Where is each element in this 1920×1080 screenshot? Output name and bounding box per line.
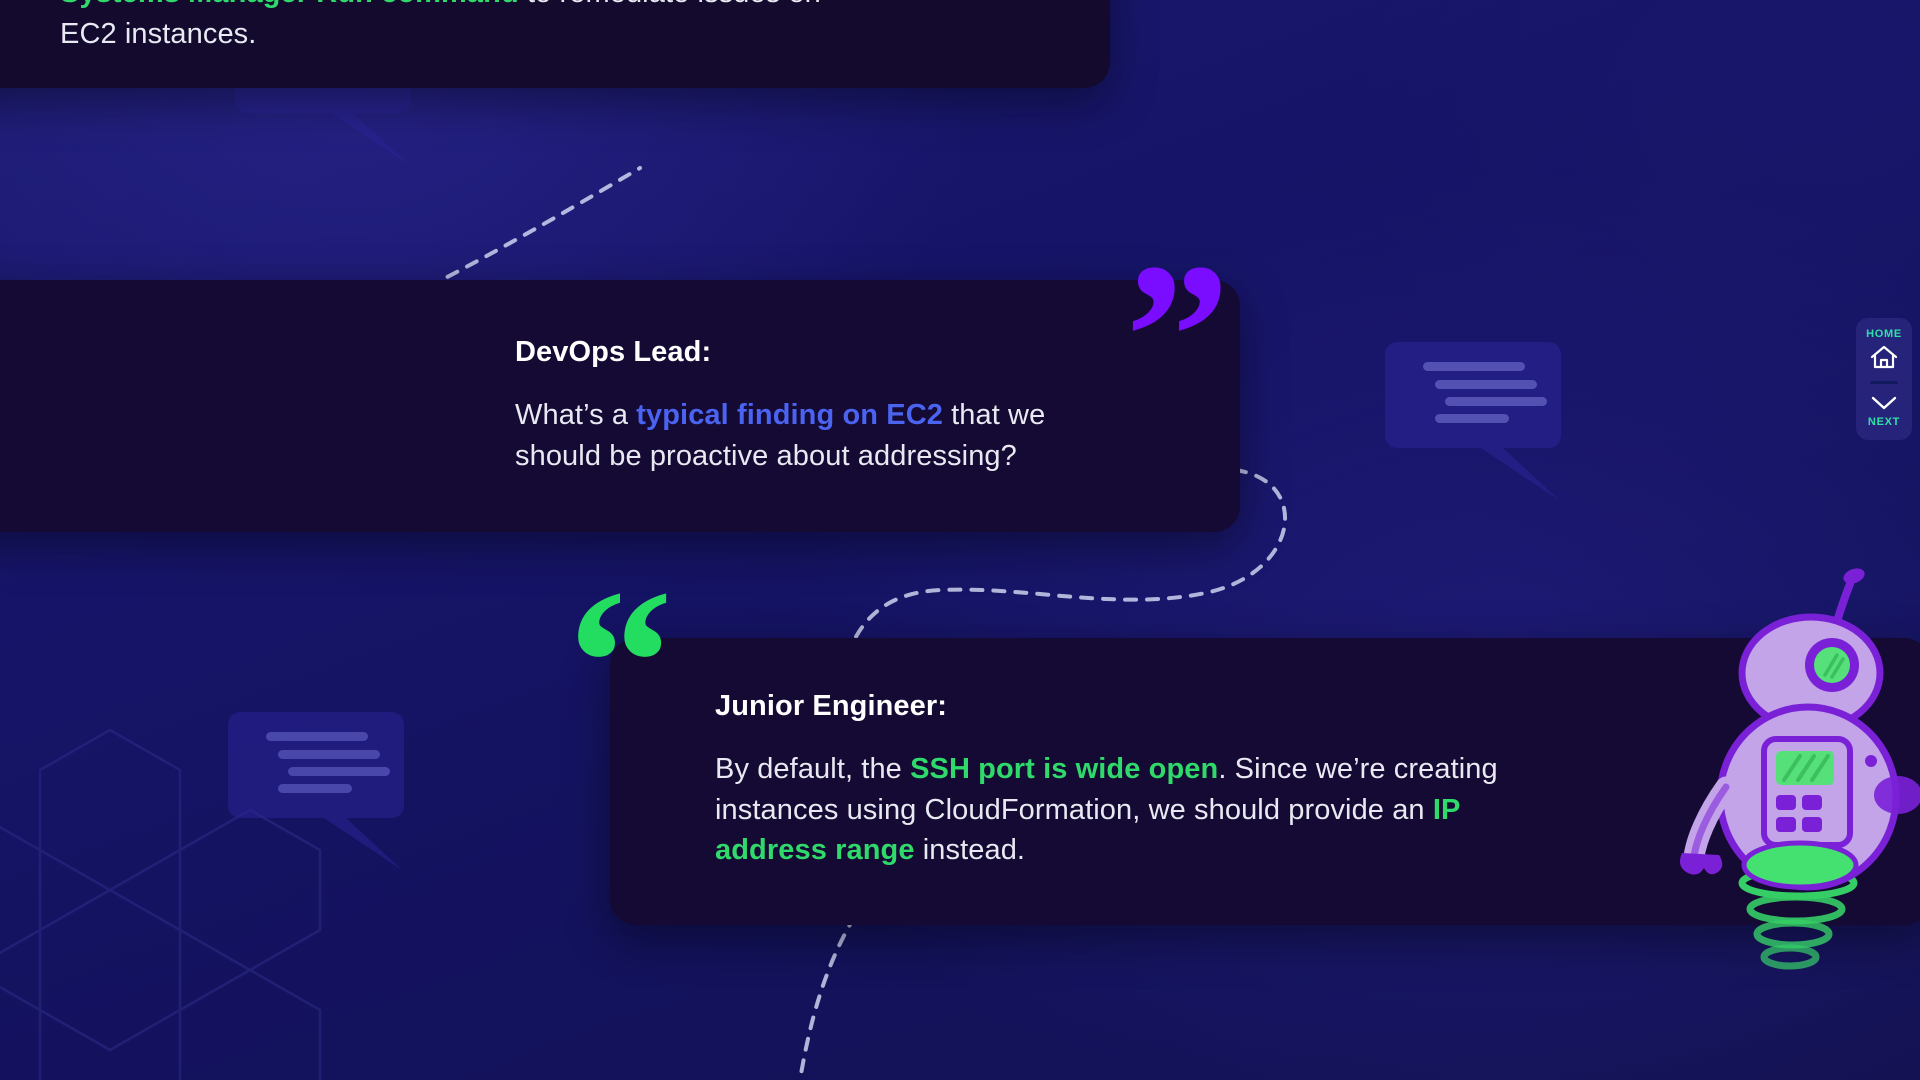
nav-divider bbox=[1870, 381, 1898, 384]
chat-bubble-icon bbox=[1375, 340, 1570, 500]
message-body: What’s a typical finding on EC2 that wes… bbox=[515, 395, 1180, 476]
text-run: instances using CloudFormation, we shoul… bbox=[715, 794, 1433, 826]
home-button-label: HOME bbox=[1866, 328, 1902, 340]
text-run: Systems Manager Run command bbox=[60, 0, 519, 9]
chat-bubble-icon bbox=[218, 710, 413, 870]
next-button-label: NEXT bbox=[1868, 416, 1900, 428]
chevron-down-icon[interactable] bbox=[1869, 394, 1899, 412]
text-run: IP bbox=[1433, 794, 1461, 826]
text-run: What’s a bbox=[515, 399, 636, 431]
text-run: instead. bbox=[915, 834, 1026, 866]
text-run: address range bbox=[715, 834, 915, 866]
text-run: . Since we’re creating bbox=[1218, 753, 1497, 785]
speaker-name: DevOps Lead: bbox=[515, 336, 1180, 369]
text-run: EC2 instances. bbox=[60, 18, 256, 50]
robot-mascot bbox=[1680, 565, 1920, 995]
slide-navigation: HOME NEXT bbox=[1856, 318, 1912, 440]
text-run: to remediate issues on bbox=[519, 0, 821, 9]
text-run: SSH port is wide open bbox=[910, 753, 1218, 785]
text-run: typical finding on EC2 bbox=[636, 399, 943, 431]
home-icon[interactable] bbox=[1869, 344, 1899, 370]
text-run: should be proactive about addressing? bbox=[515, 440, 1017, 472]
message-bubble-question: DevOps Lead: What’s a typical finding on… bbox=[0, 280, 1240, 532]
text-run: that we bbox=[943, 399, 1045, 431]
message-body: Sure! We can use EventBridge to trigger … bbox=[60, 0, 1050, 54]
quote-mark-green: “ bbox=[568, 558, 673, 768]
text-run: By default, the bbox=[715, 753, 910, 785]
message-bubble-answer-top: Sure! We can use EventBridge to trigger … bbox=[0, 0, 1110, 88]
quote-mark-purple: ” bbox=[1125, 232, 1230, 442]
slide-canvas: Sure! We can use EventBridge to trigger … bbox=[0, 0, 1920, 1080]
